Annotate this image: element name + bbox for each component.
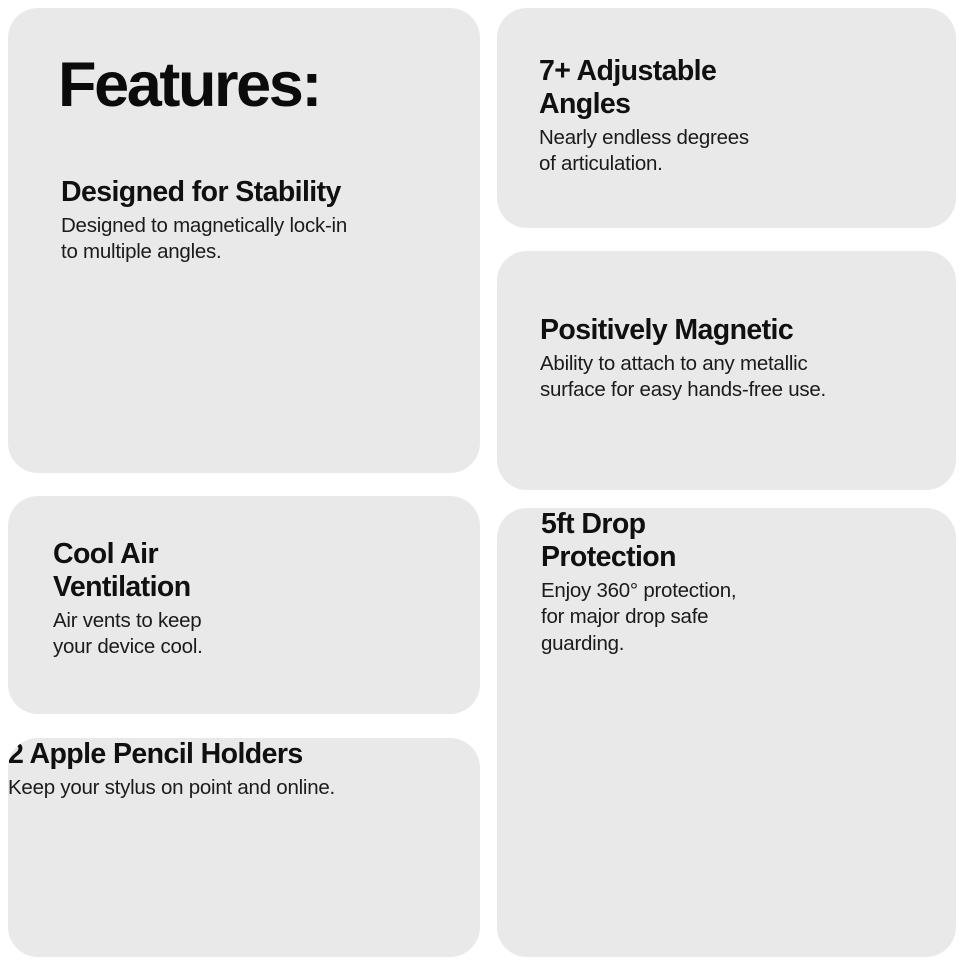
page-title: Features: xyxy=(58,52,320,118)
cooling-subtext: Air vents to keep your device cool. xyxy=(53,608,253,660)
pencil-heading: 2 Apple Pencil Holders xyxy=(8,738,335,771)
feature-card-stability: Features: Designed for Stability Designe… xyxy=(8,8,480,473)
angles-text-block: 7+ Adjustable Angles Nearly endless degr… xyxy=(539,55,797,178)
drop-heading: 5ft Drop Protection xyxy=(541,508,736,574)
features-infographic: Features: Designed for Stability Designe… xyxy=(0,0,964,965)
tablet-angle-3 xyxy=(500,8,952,48)
feature-card-drop-protection: 5ft Drop Protection Enjoy 360° protectio… xyxy=(497,508,956,957)
drop-subtext: Enjoy 360° protection, for major drop sa… xyxy=(541,578,736,657)
feature-card-magnetic: Positively Magnetic Ability to attach to… xyxy=(497,251,956,490)
pencil-text-block: 2 Apple Pencil Holders Keep your stylus … xyxy=(8,738,335,801)
pencil-subtext: Keep your stylus on point and online. xyxy=(8,775,335,801)
drop-text-block: 5ft Drop Protection Enjoy 360° protectio… xyxy=(541,508,736,657)
angles-heading: 7+ Adjustable Angles xyxy=(539,55,797,121)
stability-subtext: Designed to magnetically lock-in to mult… xyxy=(61,213,421,265)
feature-card-pencil-holders: 2 Apple Pencil Holders Keep your stylus … xyxy=(8,738,480,957)
cooling-text-block: Cool Air Ventilation Air vents to keep y… xyxy=(53,538,253,661)
magnetic-subtext: Ability to attach to any metallic surfac… xyxy=(540,351,870,403)
angles-subtext: Nearly endless degrees of articulation. xyxy=(539,125,797,177)
magnetic-heading: Positively Magnetic xyxy=(540,314,870,347)
feature-card-angles: 7+ Adjustable Angles Nearly endless degr… xyxy=(497,8,956,228)
stability-heading: Designed for Stability xyxy=(61,176,421,209)
stability-text-block: Designed for Stability Designed to magne… xyxy=(61,176,421,266)
feature-card-cooling: Cool Air Ventilation Air vents to keep y… xyxy=(8,496,480,714)
cooling-heading: Cool Air Ventilation xyxy=(53,538,253,604)
tablet-angle-2 xyxy=(500,8,952,48)
magnetic-text-block: Positively Magnetic Ability to attach to… xyxy=(540,314,870,404)
